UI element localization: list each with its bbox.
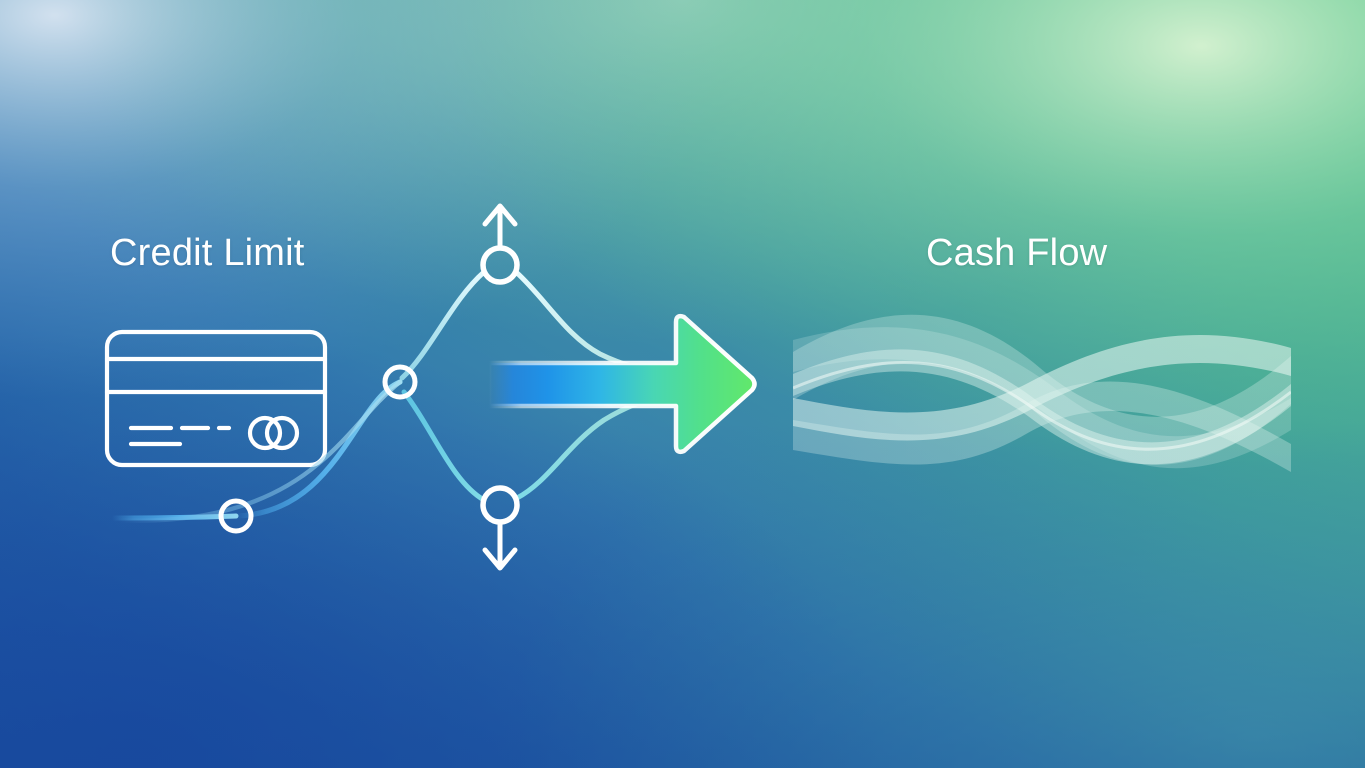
- node-up: [483, 248, 517, 282]
- trend-down-arrow-icon: [485, 522, 515, 568]
- transform-arrow-icon: [489, 316, 755, 452]
- credit-card-icon: [107, 332, 325, 465]
- target-label: Cash Flow: [926, 232, 1107, 275]
- diagram-artwork: [0, 0, 1365, 768]
- infographic-canvas: Credit Limit Cash Flow: [0, 0, 1365, 768]
- node-down: [483, 488, 517, 522]
- inbound-flow-curve: [112, 382, 400, 521]
- trend-up-arrow-icon: [485, 206, 515, 248]
- source-label: Credit Limit: [110, 232, 305, 275]
- cash-flow-waves: [793, 315, 1291, 472]
